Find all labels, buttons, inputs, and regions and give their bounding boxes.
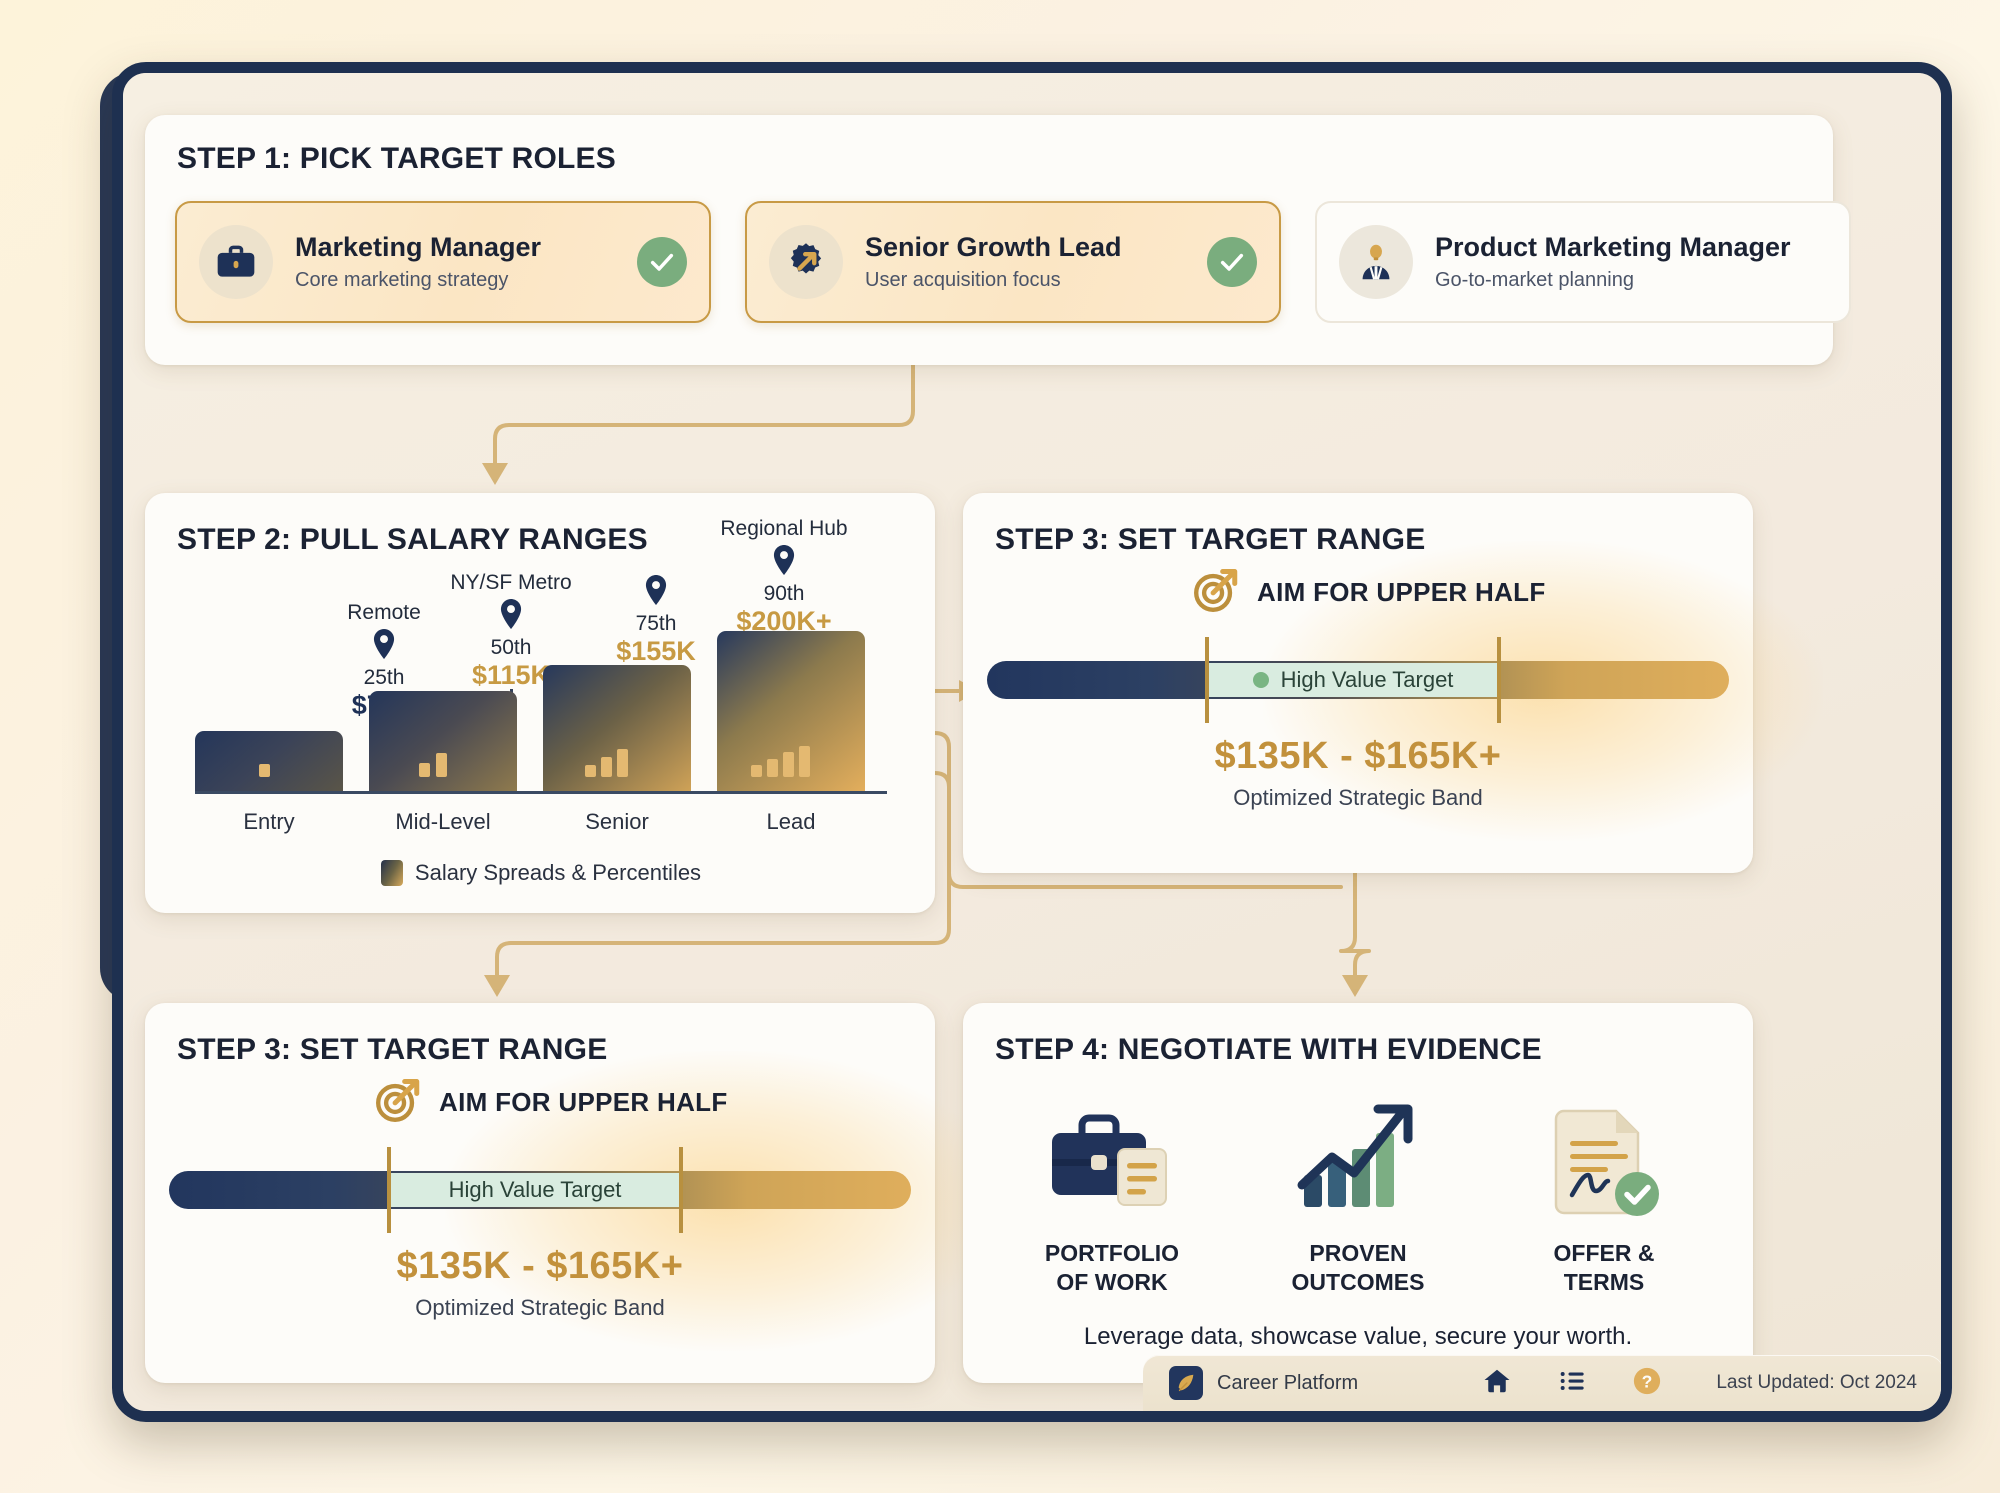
help-icon[interactable]: ? xyxy=(1632,1366,1662,1401)
role-name: Senior Growth Lead xyxy=(865,232,1207,263)
step-3-title: STEP 3: SET TARGET RANGE xyxy=(995,523,1425,557)
chart-axis-line xyxy=(195,791,887,794)
growth-chart-arrow-icon xyxy=(1248,1093,1468,1223)
high-value-target-label: High Value Target xyxy=(449,1177,622,1203)
role-name: Product Marketing Manager xyxy=(1435,232,1827,263)
map-pin-icon xyxy=(561,575,751,610)
mini-bar xyxy=(617,749,628,777)
device-screen: STEP 1: PICK TARGET ROLES Marketing Mana… xyxy=(123,73,1941,1411)
mini-bar xyxy=(419,763,430,777)
target-range-value: $135K - $165K+ xyxy=(963,735,1753,778)
evidence-item-list: PORTFOLIO OF WORK PROVEN OUTCOMES xyxy=(989,1093,1727,1297)
annotation-location: Remote xyxy=(289,601,479,625)
bar-mid-level xyxy=(369,691,517,791)
target-range-subtitle: Optimized Strategic Band xyxy=(963,785,1753,811)
evidence-label: PORTFOLIO OF WORK xyxy=(1002,1239,1222,1297)
status-dot xyxy=(1253,672,1269,688)
target-range-value: $135K - $165K+ xyxy=(145,1245,935,1288)
person-lightbulb-icon xyxy=(1339,225,1413,299)
check-icon xyxy=(1207,237,1257,287)
bar-senior xyxy=(543,665,691,791)
aim-for-upper-half: AIM FOR UPPER HALF xyxy=(373,1075,728,1130)
step-1-panel: STEP 1: PICK TARGET ROLES Marketing Mana… xyxy=(145,115,1833,365)
feather-quill-icon xyxy=(1169,1366,1203,1400)
briefcase-icon xyxy=(199,225,273,299)
step-4-footer-text: Leverage data, showcase value, secure yo… xyxy=(963,1323,1753,1351)
high-value-target-chip: High Value Target xyxy=(1209,663,1497,697)
category-label-lead: Lead xyxy=(717,809,865,835)
legend-swatch xyxy=(381,860,403,886)
mini-bar xyxy=(767,759,778,777)
step-3-panel-primary: STEP 3: SET TARGET RANGE AIM FOR UPPER H… xyxy=(963,493,1753,873)
evidence-label: OFFER & TERMS xyxy=(1494,1239,1714,1297)
evidence-item-outcomes: PROVEN OUTCOMES xyxy=(1248,1093,1468,1297)
chart-legend: Salary Spreads & Percentiles xyxy=(161,851,921,895)
range-marker-high xyxy=(1497,637,1501,723)
role-subtitle: User acquisition focus xyxy=(865,269,1207,292)
target-arrow-icon xyxy=(1191,565,1241,620)
mini-bar xyxy=(751,765,762,777)
evidence-item-offer: OFFER & TERMS xyxy=(1494,1093,1714,1297)
mini-bar xyxy=(585,765,596,777)
bar-lead xyxy=(717,631,865,791)
step-3-panel-secondary: STEP 3: SET TARGET RANGE AIM FOR UPPER H… xyxy=(145,1003,935,1383)
step-2-panel: STEP 2: PULL SALARY RANGES Regional Hub … xyxy=(145,493,935,913)
mini-bar xyxy=(436,753,447,777)
role-card-senior-growth-lead[interactable]: Senior Growth Lead User acquisition focu… xyxy=(745,201,1281,323)
evidence-label: PROVEN OUTCOMES xyxy=(1248,1239,1468,1297)
role-name: Marketing Manager xyxy=(295,232,637,263)
bar-entry xyxy=(195,731,343,791)
mini-bar xyxy=(783,752,794,777)
step-3-title: STEP 3: SET TARGET RANGE xyxy=(177,1033,607,1067)
last-updated-label: Last Updated: Oct 2024 xyxy=(1716,1372,1917,1394)
evidence-item-portfolio: PORTFOLIO OF WORK xyxy=(1002,1093,1222,1297)
category-label-mid-level: Mid-Level xyxy=(369,809,517,835)
svg-text:?: ? xyxy=(1642,1371,1653,1391)
aim-label: AIM FOR UPPER HALF xyxy=(1257,577,1546,608)
role-card-marketing-manager[interactable]: Marketing Manager Core marketing strateg… xyxy=(175,201,711,323)
device-frame: STEP 1: PICK TARGET ROLES Marketing Mana… xyxy=(112,62,1952,1422)
mini-bar xyxy=(259,764,270,777)
gear-arrow-icon xyxy=(769,225,843,299)
home-icon[interactable] xyxy=(1482,1366,1512,1401)
step-4-title: STEP 4: NEGOTIATE WITH EVIDENCE xyxy=(995,1033,1542,1067)
role-card-list: Marketing Manager Core marketing strateg… xyxy=(175,201,1851,323)
target-range-subtitle: Optimized Strategic Band xyxy=(145,1295,935,1321)
target-arrow-icon xyxy=(373,1075,423,1130)
mini-bar xyxy=(799,746,810,777)
role-card-product-marketing-manager[interactable]: Product Marketing Manager Go-to-market p… xyxy=(1315,201,1851,323)
step-1-title: STEP 1: PICK TARGET ROLES xyxy=(177,142,616,176)
category-label-senior: Senior xyxy=(543,809,691,835)
annotation-percentile: 25th xyxy=(289,666,479,690)
status-bar: Career Platform ? xyxy=(1143,1355,1941,1411)
app-name: Career Platform xyxy=(1217,1372,1358,1395)
role-subtitle: Go-to-market planning xyxy=(1435,269,1827,292)
high-value-target-label: High Value Target xyxy=(1281,667,1454,693)
mini-bar xyxy=(601,757,612,777)
high-value-target-chip: High Value Target xyxy=(391,1173,679,1207)
legend-label: Salary Spreads & Percentiles xyxy=(415,860,701,886)
category-label-entry: Entry xyxy=(195,809,343,835)
role-subtitle: Core marketing strategy xyxy=(295,269,637,292)
aim-label: AIM FOR UPPER HALF xyxy=(439,1087,728,1118)
annotation-location: Regional Hub xyxy=(689,517,879,541)
briefcase-document-icon xyxy=(1002,1093,1222,1223)
signed-document-check-icon xyxy=(1494,1093,1714,1223)
range-marker-high xyxy=(679,1147,683,1233)
salary-range-bar-chart: Regional Hub 90th $200K+ NY/SF Metro 50t… xyxy=(161,513,921,903)
list-icon[interactable] xyxy=(1558,1367,1586,1400)
check-icon xyxy=(637,237,687,287)
aim-for-upper-half: AIM FOR UPPER HALF xyxy=(1191,565,1546,620)
step-4-panel: STEP 4: NEGOTIATE WITH EVIDENCE xyxy=(963,1003,1753,1383)
map-pin-icon xyxy=(289,629,479,664)
